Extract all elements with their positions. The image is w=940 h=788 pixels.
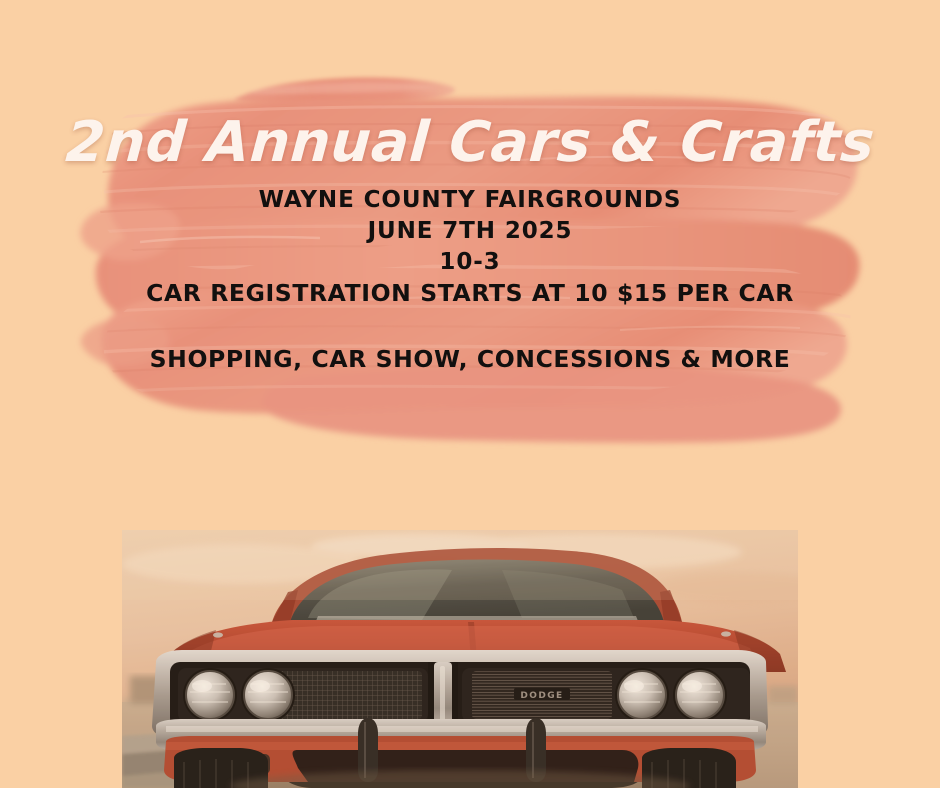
- brush-dash-top: [234, 77, 455, 104]
- date-line: JUNE 7TH 2025: [0, 216, 940, 247]
- title-container: 2nd Annual Cars & Crafts: [0, 112, 940, 174]
- tagline: SHOPPING, CAR SHOW, CONCESSIONS & MORE: [0, 344, 940, 374]
- hours-line: 10-3: [0, 247, 940, 278]
- car-photo: DODGE: [122, 530, 798, 788]
- classic-car-illustration: DODGE: [122, 530, 798, 788]
- venue-line: WAYNE COUNTY FAIRGROUNDS: [0, 185, 940, 216]
- event-info-block: WAYNE COUNTY FAIRGROUNDS JUNE 7TH 2025 1…: [0, 185, 940, 309]
- flyer-canvas: 2nd Annual Cars & Crafts WAYNE COUNTY FA…: [0, 0, 940, 788]
- registration-line: CAR REGISTRATION STARTS AT 10 $15 PER CA…: [0, 278, 940, 309]
- flyer-title: 2nd Annual Cars & Crafts: [64, 112, 877, 174]
